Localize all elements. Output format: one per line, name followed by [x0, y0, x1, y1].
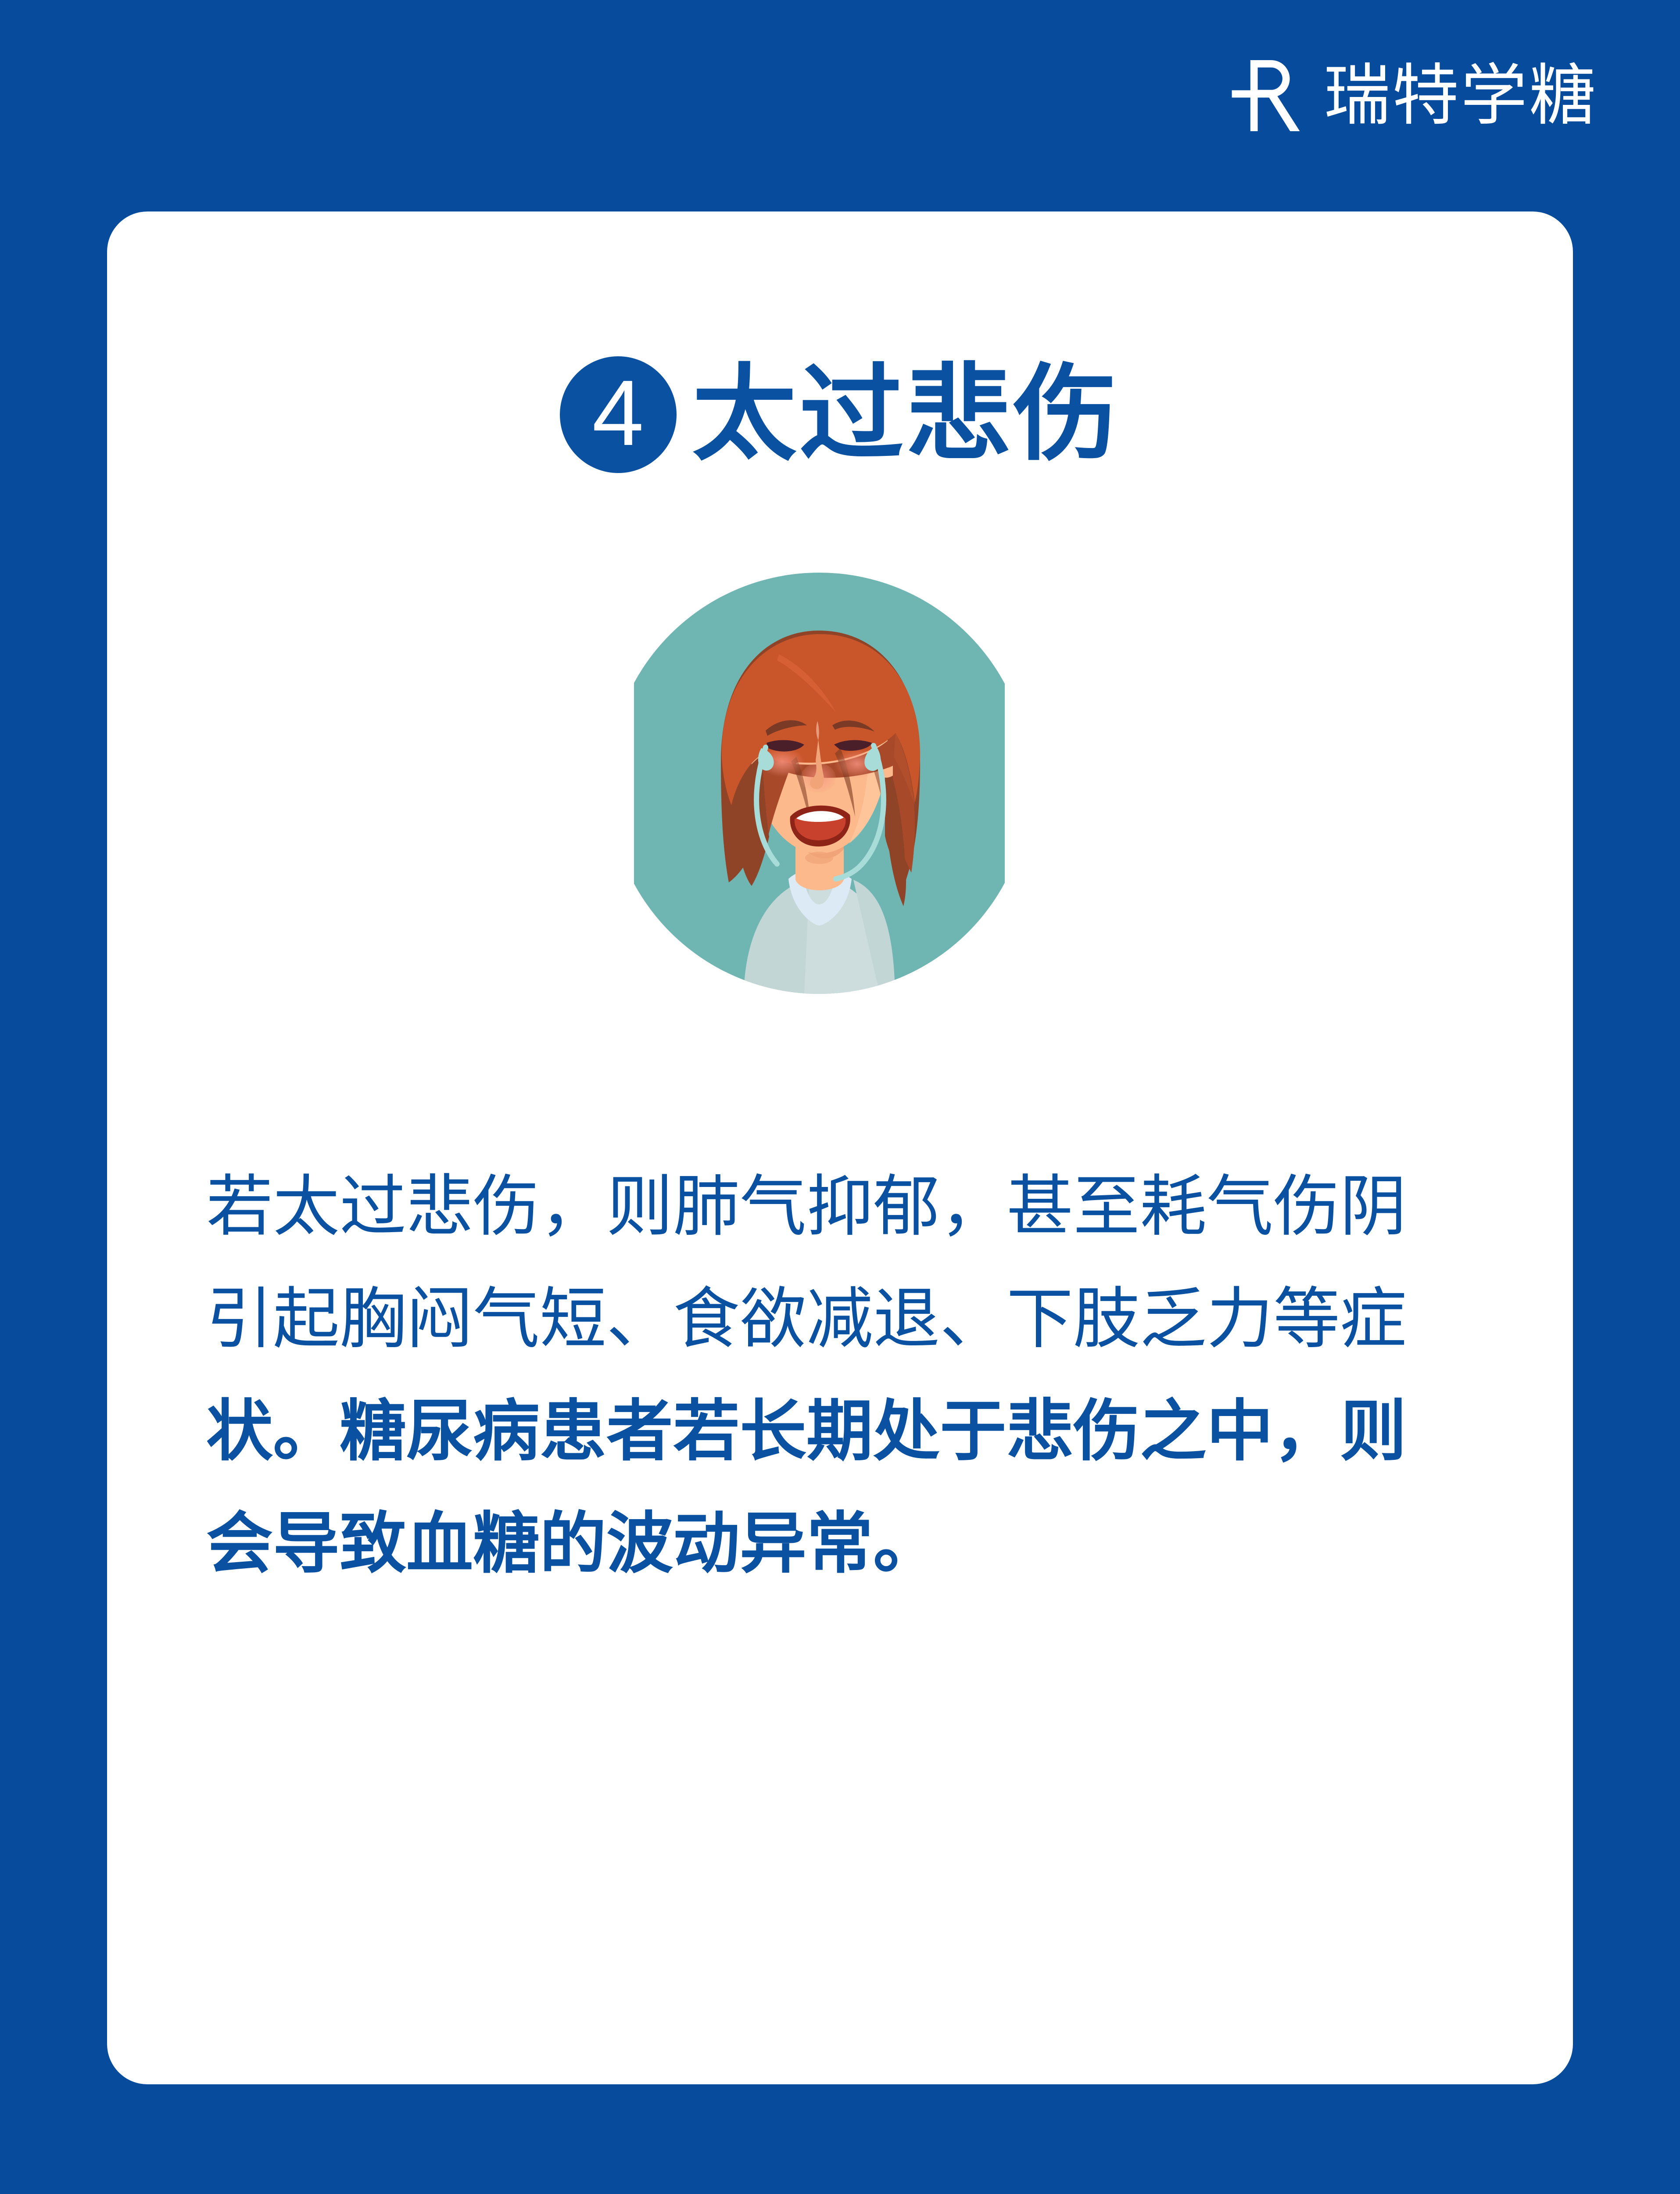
step-number-badge: 4 — [560, 356, 677, 473]
page-title: 4 太过悲伤 — [107, 356, 1573, 473]
body-copy: 若太过悲伤，则肺气抑郁，甚至耗气伤阴 引起胸闷气短、食欲减退、下肢乏力等症 状。… — [206, 1151, 1505, 1600]
brand-header: 瑞特学糖 — [1227, 56, 1598, 135]
body-line: 若太过悲伤，则肺气抑郁，甚至耗气伤阴 — [206, 1151, 1505, 1263]
brand-name: 瑞特学糖 — [1324, 62, 1598, 129]
body-line: 状。糖尿病患者若长期处于悲伤之中，则 — [206, 1375, 1505, 1488]
r-cross-logo-icon — [1227, 57, 1304, 134]
body-line: 会导致血糖的波动异常。 — [206, 1488, 1505, 1600]
page-title-text: 太过悲伤 — [692, 362, 1121, 467]
body-line: 引起胸闷气短、食欲减退、下肢乏力等症 — [206, 1263, 1505, 1375]
content-card: 4 太过悲伤 — [107, 212, 1573, 2084]
crying-woman-avatar-icon — [634, 573, 1005, 994]
